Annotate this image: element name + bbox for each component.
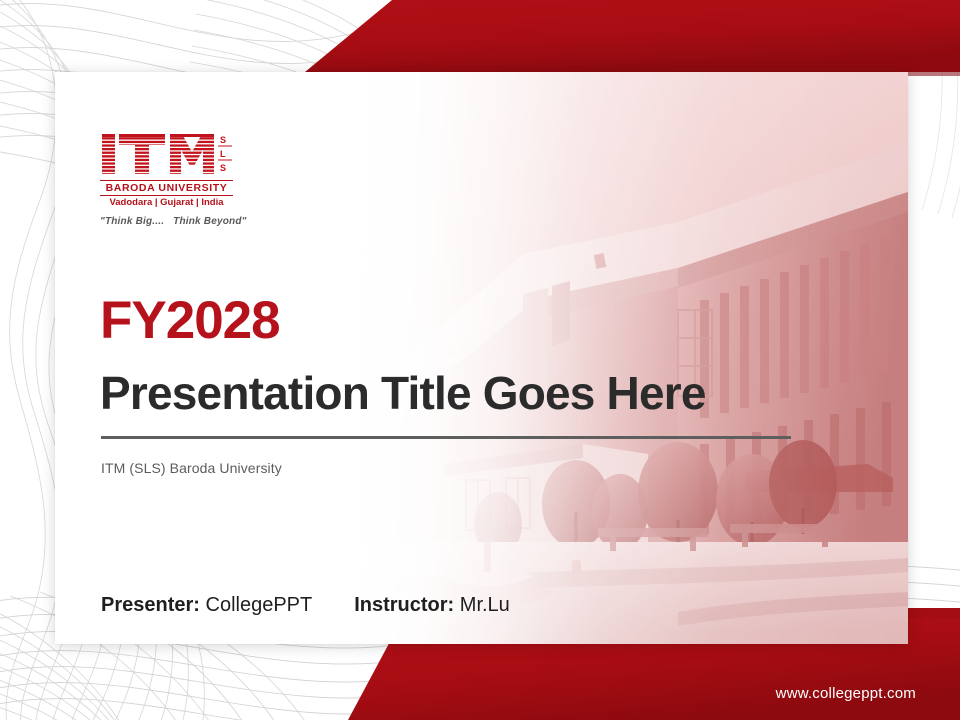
card-content: S L S BARODA UNIVERSITY Vadodara | Gujar… [55,72,908,644]
instructor-label: Instructor: [354,594,454,616]
presenter-label: Presenter: [101,594,200,616]
presentation-meta: Presenter: CollegePPT Instructor: Mr.Lu [101,594,510,617]
itm-logo: S L S BARODA UNIVERSITY Vadodara | Gujar… [100,130,300,227]
fiscal-year-heading: FY2028 [100,294,280,347]
svg-text:S: S [220,135,226,145]
logo-university-name: BARODA UNIVERSITY [100,180,233,196]
presenter-field: Presenter: CollegePPT [101,594,312,617]
logo-tagline: "Think Big.... Think Beyond" [100,216,250,227]
footer-website-url[interactable]: www.collegeppt.com [776,685,916,702]
logo-location: Vadodara | Gujarat | India [100,196,233,209]
presenter-value: CollegePPT [206,594,313,616]
itm-logo-mark-icon: S L S [100,130,235,178]
slide-card: ITM - SCHOOL OF ARCHITECTURE, ART AND DE… [55,72,908,644]
svg-text:S: S [220,163,226,173]
instructor-value: Mr.Lu [460,594,510,616]
page-subtitle: ITM (SLS) Baroda University [101,460,282,476]
presentation-slide: ITM - SCHOOL OF ARCHITECTURE, ART AND DE… [0,0,960,720]
svg-text:L: L [220,149,226,159]
instructor-field: Instructor: Mr.Lu [354,594,510,617]
page-title: Presentation Title Goes Here [100,370,706,416]
title-divider [101,436,791,439]
